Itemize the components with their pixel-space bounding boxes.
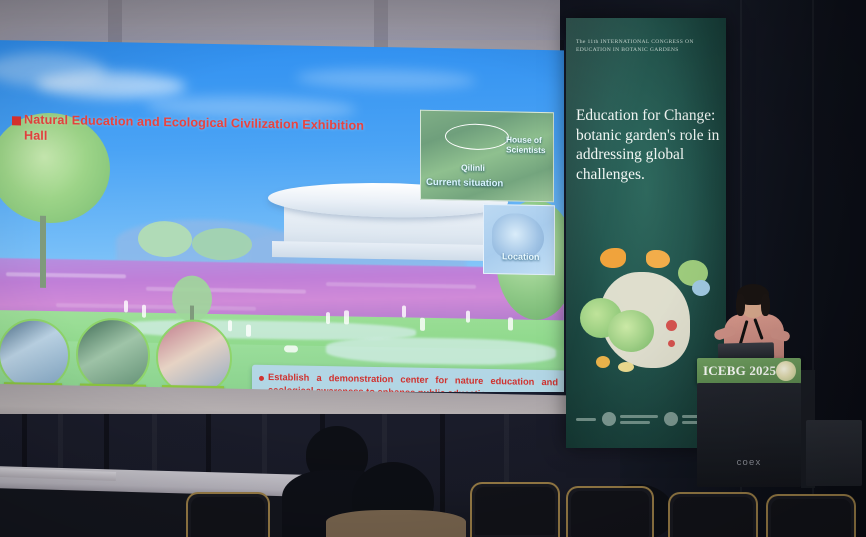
- inset-label-qilinli: Qilinli: [461, 163, 485, 173]
- inset-label-current-situation: Current situation: [426, 177, 503, 189]
- chair: [566, 486, 654, 537]
- chair: [470, 482, 560, 537]
- chair: [668, 492, 758, 537]
- podium-sign-text: ICEBG 2025: [703, 363, 776, 379]
- title-bullet-icon: [12, 116, 21, 125]
- slide-callout-box: Establish a demonstration center for nat…: [252, 365, 564, 392]
- conference-hall-photo: Natural Education and Ecological Civiliz…: [0, 0, 866, 537]
- callout-text: Establish a demonstration center for nat…: [268, 371, 558, 392]
- slide-title: Natural Education and Ecological Civiliz…: [24, 113, 374, 150]
- podium: coex: [697, 383, 801, 487]
- photo-science-exhibition: [0, 318, 70, 391]
- stage-equipment-box: [806, 420, 862, 486]
- inset-label-house-of-scientists: House of Scientists: [506, 135, 556, 155]
- podium-sign: ICEBG 2025: [697, 358, 801, 384]
- chair: [766, 494, 856, 537]
- sign-flower-icon: [776, 361, 796, 381]
- inset-location-map: [483, 204, 555, 275]
- banner-headline: Education for Change: botanic garden's r…: [576, 106, 726, 184]
- photo-science-commentary: [76, 317, 150, 392]
- chair: [186, 492, 270, 537]
- venue-logo: coex: [697, 457, 801, 468]
- inset-label-location: Location: [502, 251, 540, 262]
- projection-screen: Natural Education and Ecological Civiliz…: [0, 40, 564, 392]
- presentation-slide: Natural Education and Ecological Civiliz…: [0, 40, 564, 392]
- audience-shoulders: [326, 510, 466, 537]
- banner-kicker: The 11th INTERNATIONAL CONGRESS ON EDUCA…: [576, 38, 718, 54]
- callout-bullet-icon: [259, 376, 264, 381]
